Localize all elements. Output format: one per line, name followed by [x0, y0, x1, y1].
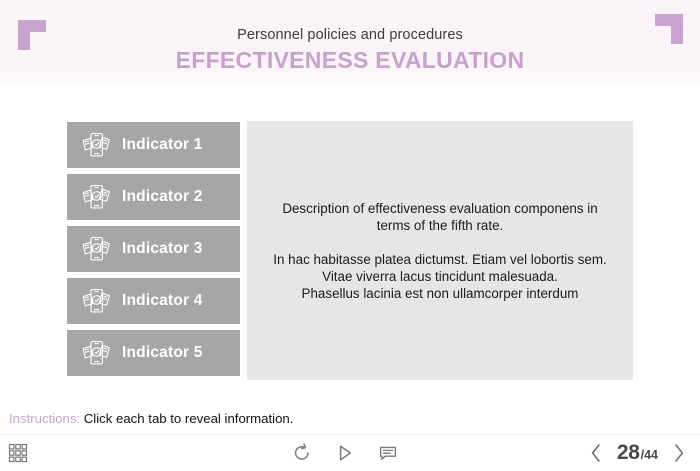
tab-indicator-5[interactable]: Indicator 5	[67, 330, 240, 376]
grid-menu-button[interactable]	[8, 443, 28, 463]
chevron-left-icon	[588, 442, 604, 464]
playback-controls	[290, 441, 400, 465]
previous-slide-button[interactable]	[587, 441, 605, 465]
tab-indicator-1[interactable]: Indicator 1	[67, 122, 240, 168]
page-total: /44	[641, 448, 658, 462]
grid-menu-icon	[8, 443, 28, 463]
documents-check-icon	[80, 234, 114, 264]
description-line: Phasellus lacinia est non ullamcorper in…	[273, 285, 606, 302]
replay-icon	[292, 443, 312, 463]
tab-label: Indicator 2	[122, 188, 203, 206]
slide-root: Personnel policies and procedures EFFECT…	[0, 0, 700, 470]
description-line: Description of effectiveness evaluation …	[273, 200, 606, 217]
content-panel: Description of effectiveness evaluation …	[247, 121, 633, 380]
tab-label: Indicator 3	[122, 240, 203, 258]
play-icon	[335, 443, 355, 463]
page-title: EFFECTIVENESS EVALUATION	[0, 47, 700, 74]
replay-button[interactable]	[290, 441, 314, 465]
indicator-tab-list: Indicator 1 Indicator 2	[67, 122, 240, 382]
documents-check-icon	[80, 338, 114, 368]
tab-label: Indicator 1	[122, 136, 203, 154]
header-band: Personnel policies and procedures EFFECT…	[0, 0, 700, 86]
chevron-right-icon	[671, 442, 687, 464]
notes-bubble-icon	[378, 443, 398, 463]
tab-label: Indicator 5	[122, 344, 203, 362]
instructions-line: Instructions: Click each tab to reveal i…	[9, 411, 293, 426]
page-indicator: 28 /44	[617, 441, 658, 465]
tab-label: Indicator 4	[122, 292, 203, 310]
play-button[interactable]	[333, 441, 357, 465]
page-navigation: 28 /44	[587, 440, 688, 466]
next-slide-button[interactable]	[670, 441, 688, 465]
documents-check-icon	[80, 130, 114, 160]
description-line: In hac habitasse platea dictumst. Etiam …	[273, 251, 606, 268]
documents-check-icon	[80, 286, 114, 316]
tab-indicator-3[interactable]: Indicator 3	[67, 226, 240, 272]
documents-check-icon	[80, 182, 114, 212]
player-toolbar: 28 /44	[0, 434, 700, 471]
instructions-text: Click each tab to reveal information.	[84, 411, 294, 426]
header-subtitle: Personnel policies and procedures	[0, 27, 700, 43]
page-current: 28	[617, 441, 640, 465]
description-line: terms of the fifth rate.	[273, 217, 606, 234]
tab-indicator-4[interactable]: Indicator 4	[67, 278, 240, 324]
notes-button[interactable]	[376, 441, 400, 465]
tab-indicator-2[interactable]: Indicator 2	[67, 174, 240, 220]
description-line: Vitae viverra lacus tincidunt malesuada.	[273, 268, 606, 285]
instructions-label: Instructions:	[9, 411, 80, 426]
content-description: Description of effectiveness evaluation …	[273, 200, 606, 302]
